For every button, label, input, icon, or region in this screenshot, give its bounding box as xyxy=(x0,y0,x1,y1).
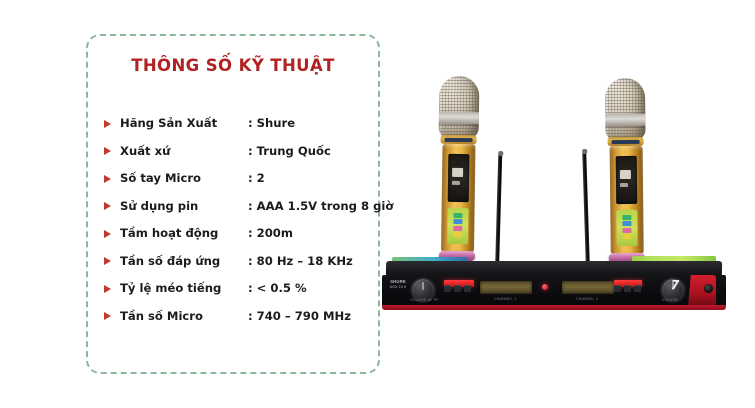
mic-display-panel xyxy=(615,156,637,204)
brand-text: SHURE xyxy=(390,279,406,284)
mic-key-blue xyxy=(622,221,631,226)
receiver-button[interactable] xyxy=(624,285,631,292)
receiver-button[interactable] xyxy=(454,285,461,292)
mic-body xyxy=(441,144,476,252)
list-item: Sử dụng pin : AAA 1.5V trong 8 giờ xyxy=(104,193,370,221)
spec-label: Xuất xứ xyxy=(120,138,248,166)
receiver-buttons-left[interactable] xyxy=(444,285,471,292)
spec-value: : < 0.5 % xyxy=(248,275,370,303)
mic-mesh-texture xyxy=(605,78,646,140)
spec-label: Số tay Micro xyxy=(120,165,248,193)
triangle-bullet-icon xyxy=(104,138,120,166)
receiver-right-logo: 7 xyxy=(668,278,682,292)
mic-display-panel xyxy=(447,154,469,202)
mic-key-yellow xyxy=(453,232,462,237)
triangle-bullet-icon xyxy=(104,193,120,221)
mic-head-band xyxy=(439,112,480,125)
spec-label: Tầm hoạt động xyxy=(120,220,248,248)
triangle-bullet-icon xyxy=(104,303,120,331)
spec-value: : 740 – 790 MHz xyxy=(248,303,370,331)
spec-label: Tần số đáp ứng xyxy=(120,248,248,276)
mic-key-blue xyxy=(453,219,462,224)
receiver-label-volume-right: VOLUME xyxy=(662,298,678,302)
spec-value: : 2 xyxy=(248,165,370,193)
spec-label: Tần số Micro xyxy=(120,303,248,331)
mic-keypad xyxy=(447,208,469,244)
triangle-bullet-icon xyxy=(104,110,120,138)
receiver-button[interactable] xyxy=(464,285,471,292)
list-item: Tỷ lệ méo tiếng : < 0.5 % xyxy=(104,275,370,303)
mic-key-yellow xyxy=(622,234,631,239)
triangle-bullet-icon xyxy=(104,248,120,276)
receiver-lcd-channel-2 xyxy=(562,281,614,294)
receiver-jack-port[interactable] xyxy=(704,284,713,293)
mic-brand-strip xyxy=(445,137,473,141)
list-item: Tầm hoạt động : 200m xyxy=(104,220,370,248)
product-photo: SHURE UGX 10 II 7 CHANNEL 1 xyxy=(382,18,742,348)
mic-key-green xyxy=(453,212,462,217)
mic-body xyxy=(609,146,643,254)
list-item: Hãng Sản Xuất : Shure xyxy=(104,110,370,138)
list-item: Số tay Micro : 2 xyxy=(104,165,370,193)
spec-label: Sử dụng pin xyxy=(120,193,248,221)
mic-grille-icon xyxy=(605,78,646,140)
triangle-bullet-icon xyxy=(104,220,120,248)
list-item: Tần số Micro : 740 – 790 MHz xyxy=(104,303,370,331)
spec-value: : 80 Hz – 18 KHz xyxy=(248,248,370,276)
receiver-button[interactable] xyxy=(444,285,451,292)
receiver-brand-label: SHURE UGX 10 II xyxy=(386,279,410,291)
receiver-lcd-channel-1 xyxy=(480,281,532,294)
mic-collar xyxy=(608,137,644,146)
spec-value: : Trung Quốc xyxy=(248,138,370,166)
receiver-label-volume-left: VOLUME AF RF xyxy=(410,298,439,302)
mic-head-band xyxy=(605,114,646,126)
spec-panel: THÔNG SỐ KỸ THUẬT Hãng Sản Xuất : Shure … xyxy=(86,34,380,374)
mic-mesh-texture xyxy=(439,76,480,139)
receiver-label-channel-1: CHANNEL 1 xyxy=(494,297,517,301)
page-title: THÔNG SỐ KỸ THUẬT xyxy=(88,56,378,75)
receiver-button[interactable] xyxy=(614,285,621,292)
spec-value: : Shure xyxy=(248,110,370,138)
triangle-bullet-icon xyxy=(104,275,120,303)
mic-grille-icon xyxy=(439,76,480,139)
mic-key-pink xyxy=(453,225,462,230)
receiver-label-channel-2: CHANNEL 2 xyxy=(576,297,599,301)
spec-list: Hãng Sản Xuất : Shure Xuất xứ : Trung Qu… xyxy=(104,110,370,330)
mic-lcd-sub xyxy=(451,181,459,185)
mic-keypad xyxy=(616,210,637,246)
mic-key-pink xyxy=(622,227,631,232)
mic-lcd-sub xyxy=(620,183,628,187)
product-spec-graphic: THÔNG SỐ KỸ THUẬT Hãng Sản Xuất : Shure … xyxy=(0,0,755,408)
receiver-bottom-edge xyxy=(382,305,726,310)
list-item: Xuất xứ : Trung Quốc xyxy=(104,138,370,166)
spec-label: Tỷ lệ méo tiếng xyxy=(120,275,248,303)
list-item: Tần số đáp ứng : 80 Hz – 18 KHz xyxy=(104,248,370,276)
mic-key-green xyxy=(622,214,631,219)
model-text: UGX 10 II xyxy=(390,285,407,289)
power-led-icon xyxy=(542,284,548,290)
receiver-buttons-right[interactable] xyxy=(614,285,641,292)
spec-value: : 200m xyxy=(248,220,370,248)
mic-lcd-main xyxy=(619,170,630,179)
mic-brand-strip xyxy=(612,139,640,143)
spec-value: : AAA 1.5V trong 8 giờ xyxy=(248,193,393,221)
mic-lcd-main xyxy=(452,168,463,177)
receiver-button[interactable] xyxy=(634,285,641,292)
wireless-receiver-unit: SHURE UGX 10 II 7 CHANNEL 1 xyxy=(382,251,730,315)
triangle-bullet-icon xyxy=(104,165,120,193)
spec-label: Hãng Sản Xuất xyxy=(120,110,248,138)
